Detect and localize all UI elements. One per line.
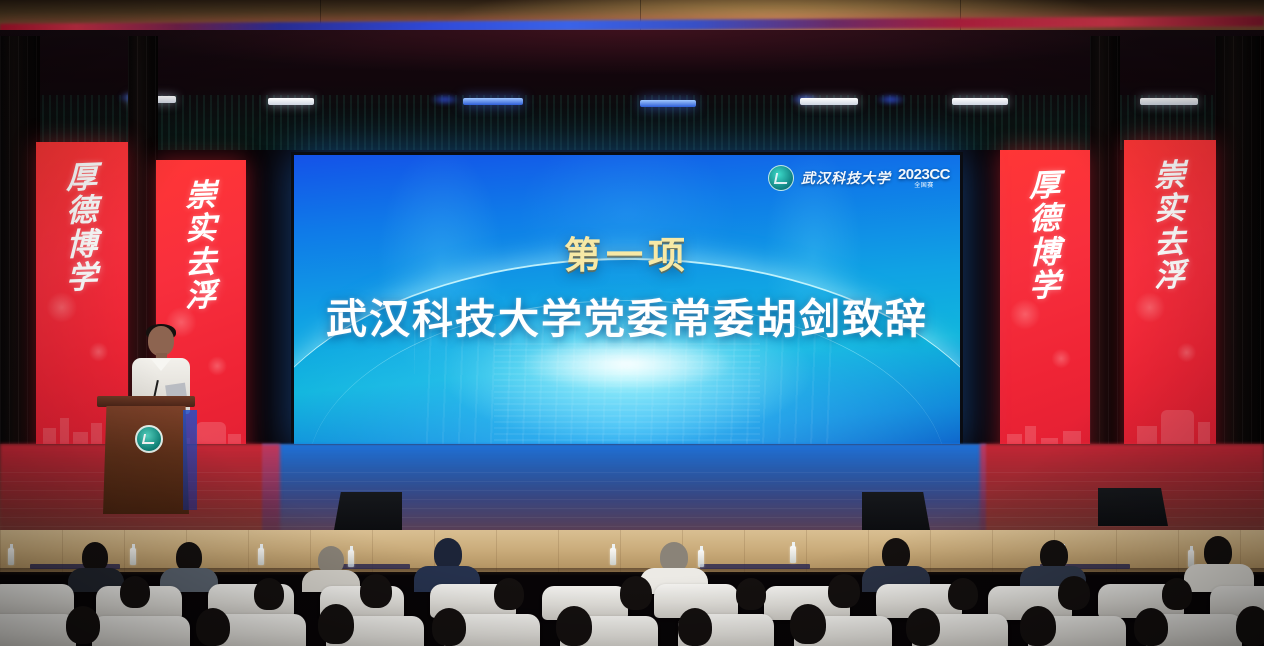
- speaker-head: [148, 326, 174, 356]
- banner-char: 学: [1029, 269, 1061, 304]
- podium-side-panel: [183, 410, 197, 510]
- audience-head: [906, 608, 940, 646]
- audience-head: [790, 604, 826, 644]
- banner-char: 浮: [185, 279, 217, 314]
- podium: [97, 396, 195, 514]
- audience-seat: [0, 614, 76, 646]
- audience-table: [700, 564, 810, 569]
- banner-right-1: 厚 德 博 学: [1000, 150, 1090, 466]
- stage-light: [800, 98, 858, 105]
- audience-head: [678, 608, 712, 646]
- upstage-curtain: [0, 95, 1264, 150]
- banner-char: 博: [66, 227, 98, 262]
- audience-head: [556, 606, 592, 646]
- audience-head: [196, 608, 230, 646]
- audience-seat: [0, 584, 74, 618]
- banner-char: 崇: [185, 178, 217, 213]
- audience-head: [360, 574, 392, 608]
- podium-top: [97, 396, 195, 407]
- banner-char: 德: [66, 194, 98, 229]
- audience-seat: [92, 616, 190, 646]
- audience-head: [432, 608, 466, 646]
- screen-logo-group: 武汉科技大学 2023CC 全国赛: [768, 165, 950, 191]
- audience-head: [1020, 606, 1056, 646]
- university-crest-icon: [135, 425, 163, 453]
- audience-head: [120, 576, 150, 608]
- audience-area: [0, 528, 1264, 646]
- water-bottle: [348, 550, 354, 567]
- banner-char: 博: [1029, 235, 1061, 270]
- audience-head: [254, 578, 284, 610]
- stage-light: [952, 98, 1008, 105]
- audience-head: [1162, 578, 1192, 610]
- banner-right-1-text: 厚 德 博 学: [1000, 167, 1090, 304]
- banner-left-1-text: 厚 德 博 学: [36, 159, 128, 296]
- stage-monitor-speaker-right: [862, 492, 930, 530]
- audience-head: [1236, 606, 1264, 646]
- stage-light: [268, 98, 314, 105]
- water-bottle: [610, 548, 616, 565]
- water-bottle: [698, 550, 704, 567]
- anniversary-mark-label: 2023CC: [898, 166, 950, 183]
- light-glow: [430, 94, 460, 105]
- banner-char: 崇: [1154, 159, 1186, 194]
- banner-char: 实: [185, 212, 217, 247]
- audience-head: [66, 606, 100, 644]
- university-seal-icon: [768, 165, 794, 191]
- audience-head: [948, 578, 978, 610]
- auditorium-photo: 厚 德 博 学 崇 实 去 浮 厚: [0, 0, 1264, 646]
- stage-monitor-speaker-far-right: [1098, 488, 1168, 526]
- banner-left-2-text: 崇 实 去 浮: [156, 177, 246, 314]
- banner-right-2: 崇 实 去 浮: [1124, 140, 1216, 462]
- podium-body: [103, 406, 189, 514]
- water-bottle: [130, 548, 136, 565]
- university-name-label: 武汉科技大学: [801, 168, 891, 188]
- audience-head: [1134, 608, 1168, 646]
- agenda-item-title: 第一项: [294, 225, 960, 279]
- water-bottle: [8, 548, 14, 565]
- agenda-item-subtitle: 武汉科技大学党委常委胡剑致辞: [294, 285, 960, 345]
- stage-light: [1140, 98, 1198, 105]
- banner-char: 厚: [1029, 168, 1061, 203]
- audience-head: [828, 574, 860, 608]
- banner-char: 学: [66, 261, 98, 296]
- anniversary-sub-label: 全国赛: [914, 183, 934, 190]
- led-screen: 武汉科技大学 2023CC 全国赛 第一项 武汉科技大学党委常委胡剑致辞: [291, 152, 963, 450]
- stage-light: [463, 98, 523, 105]
- water-bottle: [258, 548, 264, 565]
- banner-char: 去: [1154, 226, 1186, 261]
- banner-right-2-text: 崇 实 去 浮: [1124, 158, 1216, 295]
- stage-light: [640, 100, 696, 107]
- banner-char: 厚: [66, 161, 98, 196]
- banner-char: 德: [1029, 202, 1061, 237]
- water-bottle: [790, 546, 796, 563]
- audience-head: [620, 576, 652, 610]
- stage-monitor-speaker-left: [334, 492, 402, 530]
- audience-head: [1058, 576, 1090, 610]
- banner-char: 实: [1154, 192, 1186, 227]
- audience-head: [494, 578, 524, 610]
- audience-head: [318, 604, 354, 644]
- banner-char: 浮: [1154, 259, 1186, 294]
- audience-head: [736, 578, 766, 610]
- light-glow: [876, 94, 906, 105]
- banner-char: 去: [185, 245, 217, 280]
